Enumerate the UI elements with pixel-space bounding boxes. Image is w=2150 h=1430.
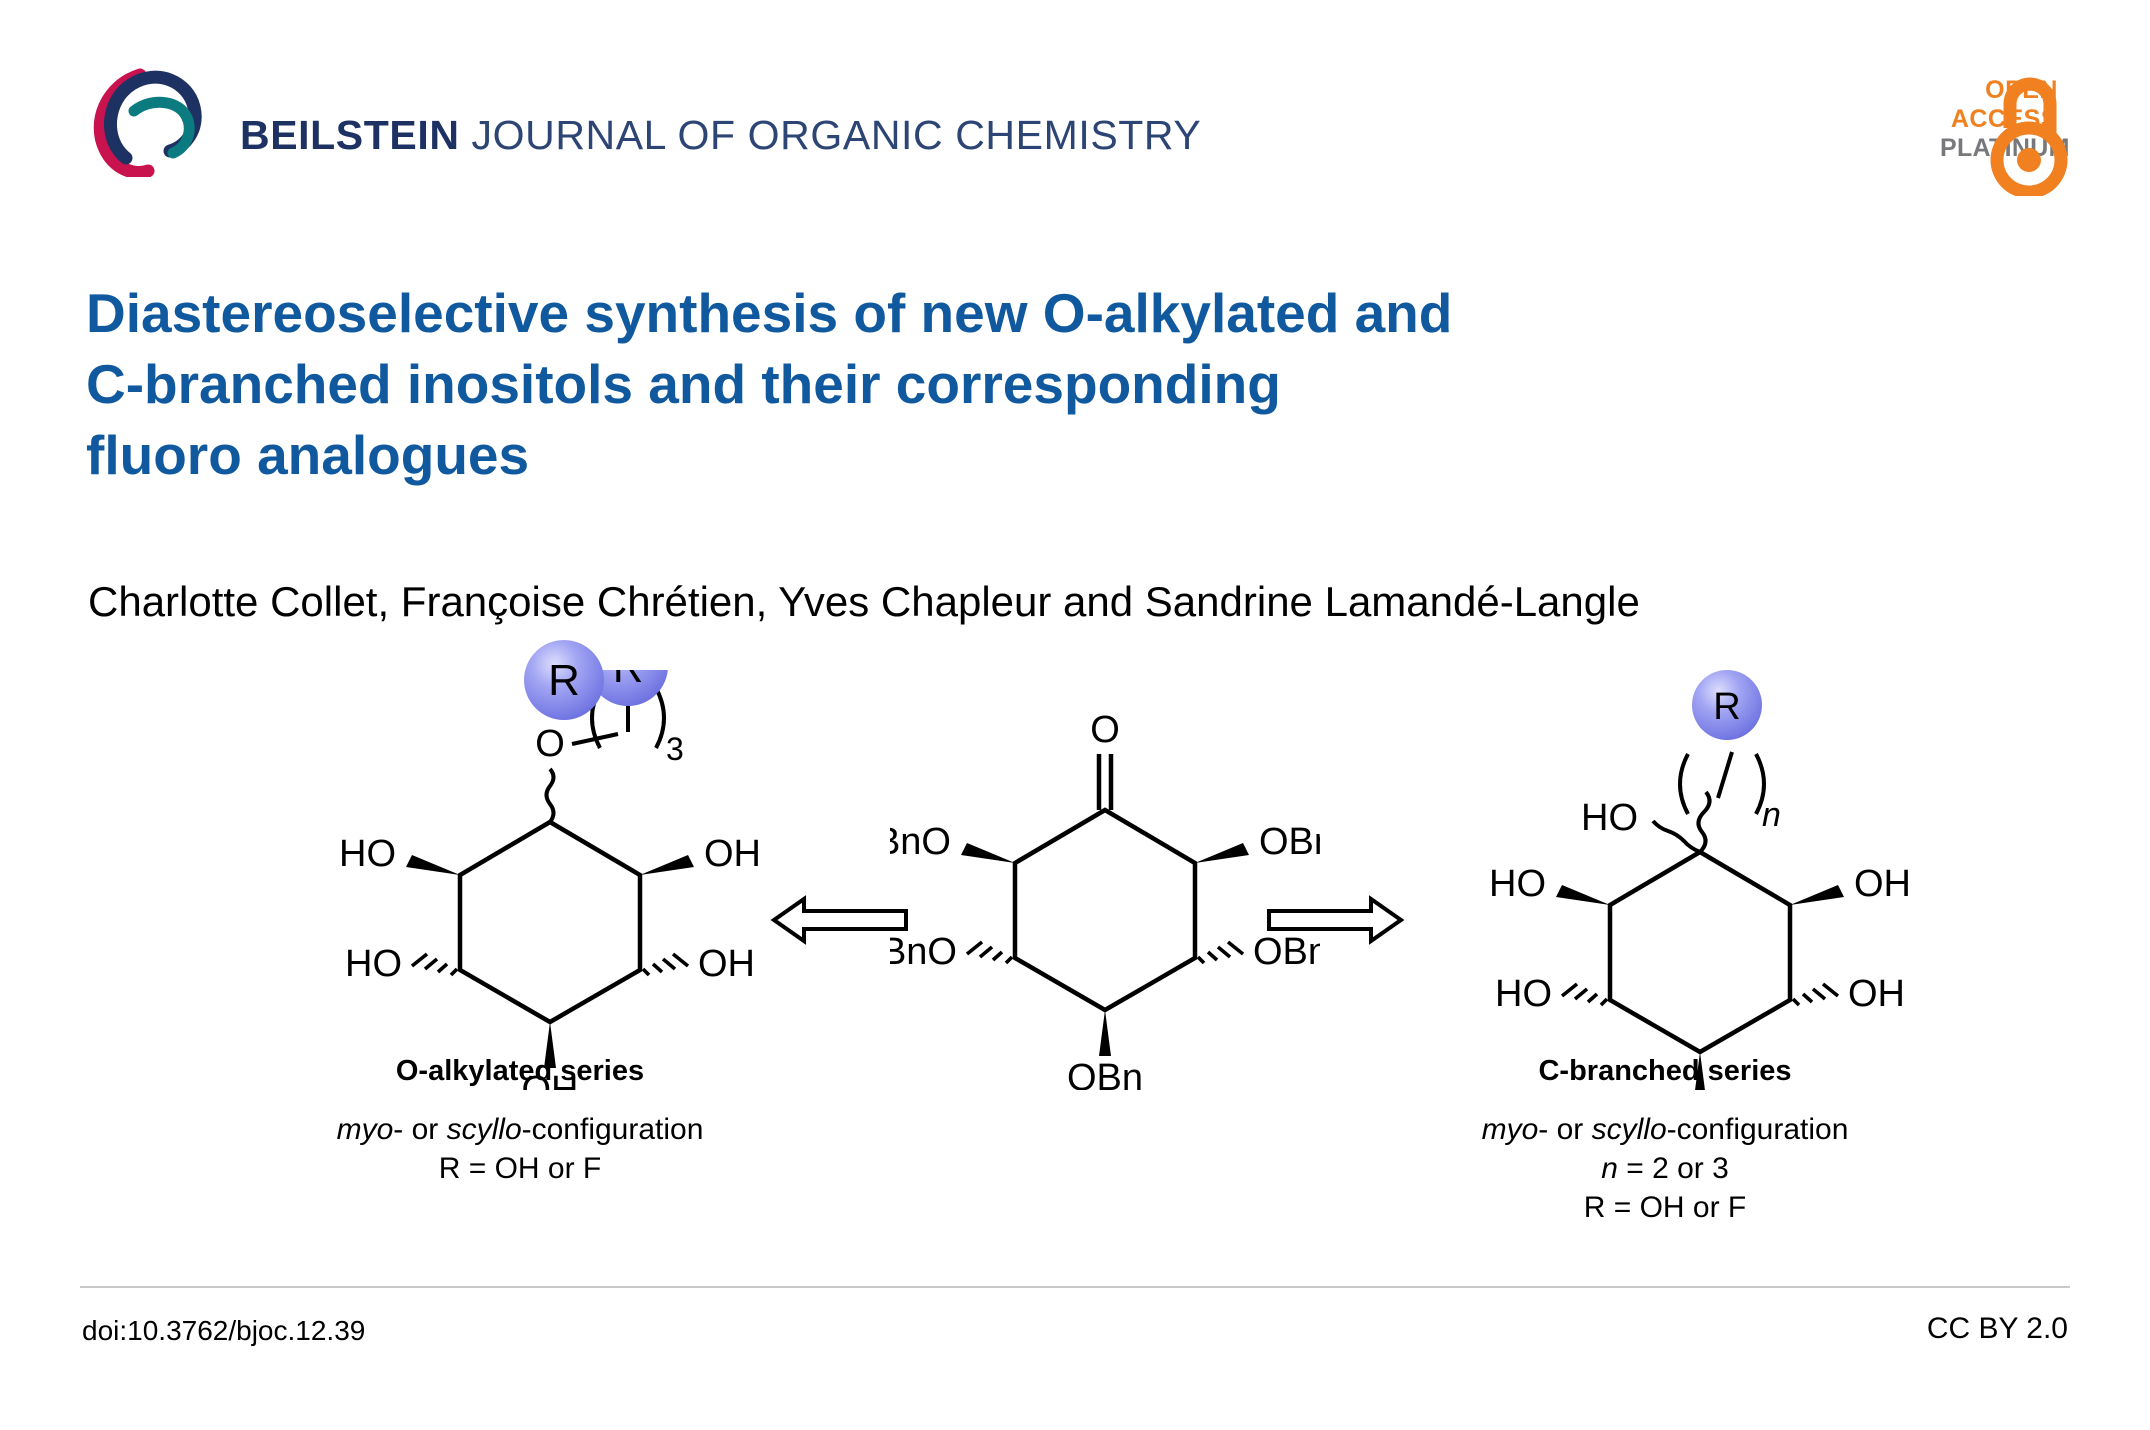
r-sphere-left: R — [516, 632, 612, 728]
caption-left-r-definition: R = OH or F — [245, 1149, 795, 1188]
svg-text:O: O — [535, 723, 565, 765]
caption-left-title: O-alkylated series — [245, 1055, 795, 1088]
svg-text:HO: HO — [1495, 973, 1552, 1015]
caption-right-title: C-branched series — [1390, 1055, 1940, 1088]
page-header: BEILSTEIN JOURNAL OF ORGANIC CHEMISTRY O… — [0, 0, 2150, 215]
caption-left-configuration: myo- or scyllo-configuration — [245, 1110, 795, 1149]
journal-title-light: JOURNAL OF ORGANIC CHEMISTRY — [460, 112, 1202, 158]
journal-title-bold: BEILSTEIN — [240, 112, 460, 158]
caption-left-or: - or — [393, 1113, 446, 1146]
caption-right-or: - or — [1538, 1113, 1591, 1146]
structure-o-alkylated-inositol: HO OH HO OH OH — [300, 670, 800, 1095]
svg-text:HO: HO — [1489, 863, 1546, 905]
svg-text:R: R — [613, 670, 643, 691]
svg-text:3: 3 — [666, 731, 684, 767]
structure-perbenzylated-inosose: O BnO OBn BnO OBn — [890, 670, 1320, 1095]
open-padlock-icon — [1986, 70, 2072, 196]
footer-divider — [80, 1286, 2070, 1288]
author-list: Charlotte Collet, Françoise Chrétien, Yv… — [88, 578, 1640, 626]
svg-text:HO: HO — [345, 943, 402, 985]
svg-text:BnO: BnO — [890, 821, 951, 863]
doi-text: doi:10.3762/bjoc.12.39 — [82, 1315, 365, 1347]
page-title-line-1: Diastereoselective synthesis of new O-al… — [86, 278, 1886, 349]
caption-right-n-values: = 2 or 3 — [1618, 1152, 1729, 1185]
caption-right-configuration: myo- or scyllo-configuration — [1390, 1110, 1940, 1149]
caption-right-config-suffix: -configuration — [1667, 1113, 1849, 1146]
svg-text:OBn: OBn — [1259, 821, 1320, 863]
retrosynthesis-arrow-left-icon — [770, 885, 910, 960]
journal-title: BEILSTEIN JOURNAL OF ORGANIC CHEMISTRY — [240, 112, 1201, 159]
license-text: CC BY 2.0 — [1927, 1312, 2068, 1346]
caption-o-alkylated: O-alkylated series myo- or scyllo-config… — [245, 1055, 795, 1188]
page-title-line-2: C-branched inositols and their correspon… — [86, 349, 1886, 420]
svg-text:OH: OH — [704, 833, 761, 875]
svg-text:OH: OH — [1854, 863, 1911, 905]
caption-right-myo: myo — [1482, 1113, 1539, 1146]
svg-text:BnO: BnO — [890, 931, 957, 973]
right-r-sphere-label: R — [1713, 686, 1740, 728]
caption-right-n-definition: n = 2 or 3 — [1390, 1149, 1940, 1188]
beilstein-spiral-logo-icon — [88, 62, 203, 177]
caption-left-config-suffix: -configuration — [522, 1113, 704, 1146]
left-r-sphere-label: R — [548, 656, 580, 705]
retrosynthesis-arrow-right-icon — [1265, 885, 1405, 960]
svg-text:n: n — [1762, 796, 1781, 834]
caption-left-scyllo: scyllo — [447, 1113, 522, 1146]
page-title-line-3: fluoro analogues — [86, 420, 1886, 491]
svg-text:HO: HO — [1581, 797, 1638, 839]
caption-c-branched: C-branched series myo- or scyllo-configu… — [1390, 1055, 1940, 1227]
svg-text:O: O — [1090, 709, 1120, 751]
caption-right-n-symbol: n — [1601, 1152, 1618, 1185]
caption-right-scyllo: scyllo — [1592, 1113, 1667, 1146]
svg-text:HO: HO — [339, 833, 396, 875]
page-title: Diastereoselective synthesis of new O-al… — [86, 278, 1886, 491]
caption-right-r-definition: R = OH or F — [1390, 1188, 1940, 1227]
caption-left-myo: myo — [337, 1113, 394, 1146]
svg-text:OBn: OBn — [1067, 1057, 1143, 1090]
svg-text:OH: OH — [1848, 973, 1905, 1015]
svg-text:OH: OH — [698, 943, 755, 985]
r-sphere-right: R — [1684, 662, 1770, 748]
